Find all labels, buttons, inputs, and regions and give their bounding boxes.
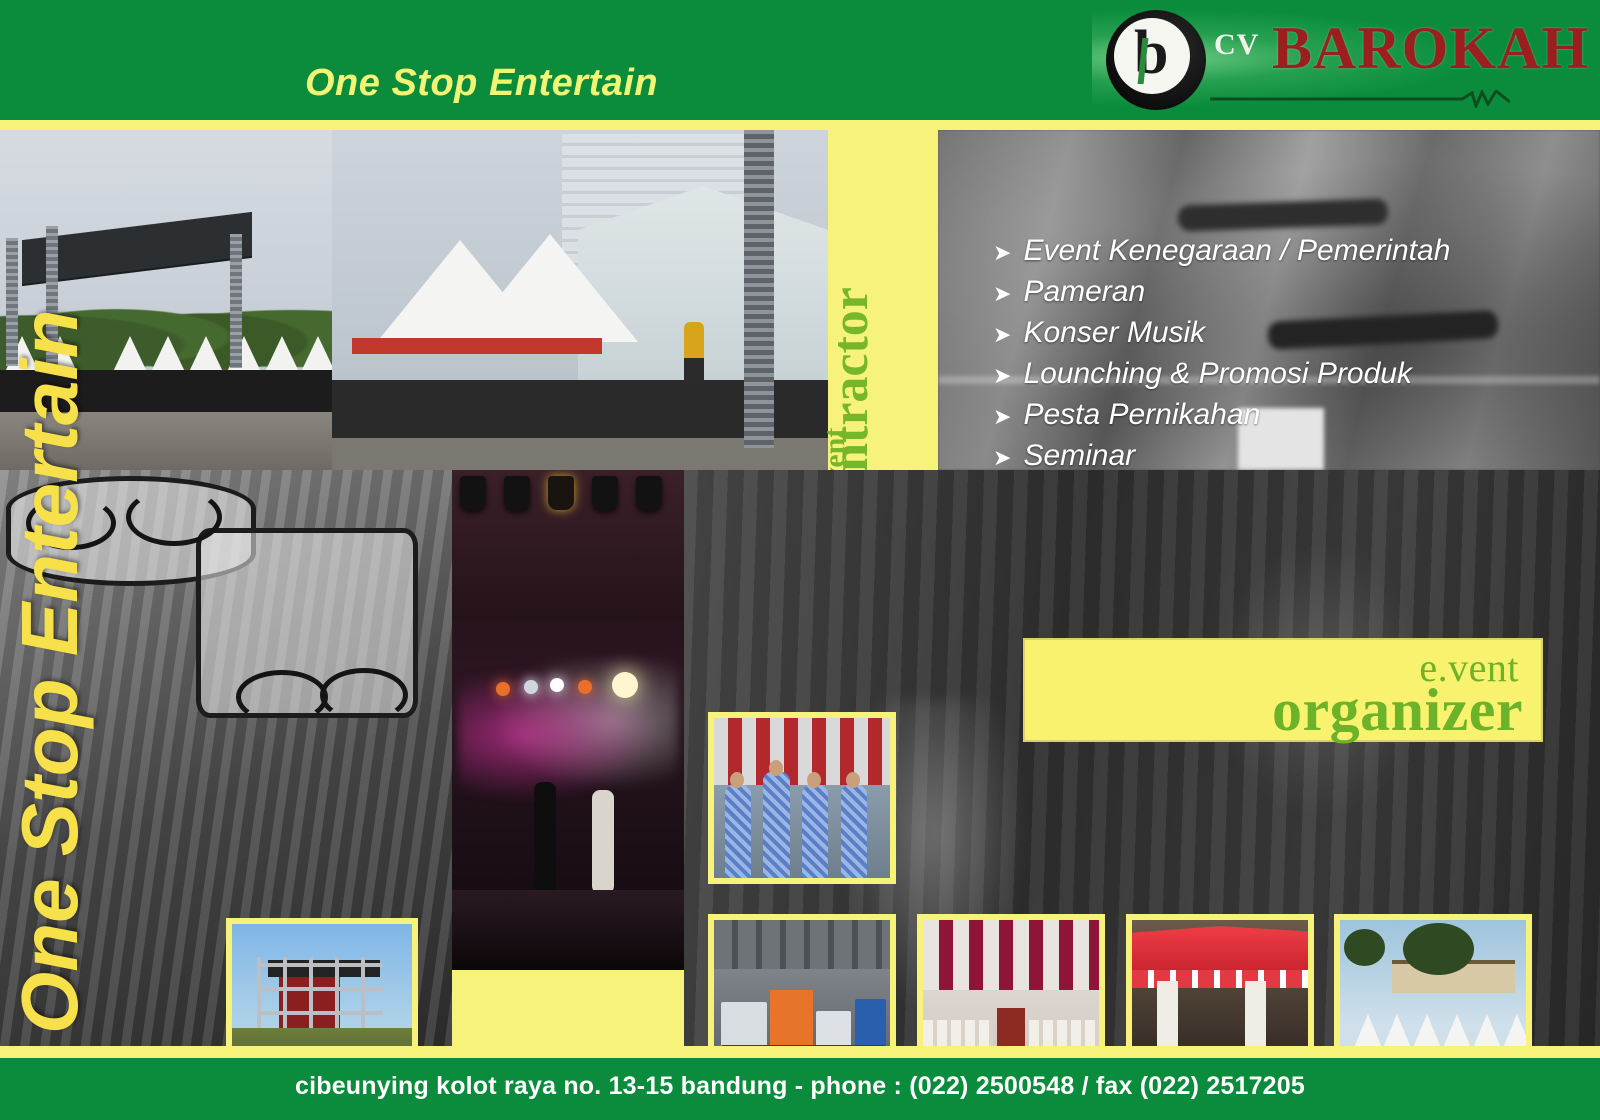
- content-area: event contractor ➤ Event Kenegaraan / Pe…: [0, 130, 1600, 1046]
- yellow-filler-block: [452, 970, 684, 1046]
- services-panel: ➤ Event Kenegaraan / Pemerintah ➤ Pamera…: [938, 130, 1600, 470]
- photo-outdoor-stage: [0, 130, 332, 470]
- divider-top: [0, 120, 1600, 130]
- arrow-bullet-icon: ➤: [993, 365, 1011, 387]
- list-item: ➤ Event Kenegaraan / Pemerintah: [993, 234, 1450, 268]
- event-contractor-label-group: event contractor: [828, 130, 938, 470]
- list-item: ➤ Seminar: [993, 439, 1450, 470]
- service-label: Konser Musik: [1023, 316, 1205, 350]
- service-label: Pameran: [1023, 275, 1145, 309]
- header-bar: One Stop Entertain b CV BAROKAH: [0, 0, 1600, 120]
- event-organizer-banner: e.vent organizer: [1023, 638, 1543, 742]
- page-title: One Stop Entertain: [305, 62, 658, 105]
- service-label: Lounching & Promosi Produk: [1023, 357, 1412, 391]
- list-item: ➤ Konser Musik: [993, 316, 1450, 350]
- services-list: ➤ Event Kenegaraan / Pemerintah ➤ Pamera…: [993, 234, 1450, 470]
- thumbnail-state-ceremony: [708, 712, 896, 884]
- photo-concert-stage: [452, 470, 684, 970]
- arrow-bullet-icon: ➤: [993, 447, 1011, 469]
- service-label: Pesta Pernikahan: [1023, 398, 1260, 432]
- list-item: ➤ Pameran: [993, 275, 1450, 309]
- list-item: ➤ Lounching & Promosi Produk: [993, 357, 1450, 391]
- divider-bottom: [0, 1046, 1600, 1058]
- service-label: Event Kenegaraan / Pemerintah: [1023, 234, 1450, 268]
- footer-bar: cibeunying kolot raya no. 13-15 bandung …: [0, 1058, 1600, 1120]
- logo-swoosh-icon: [1210, 90, 1510, 108]
- list-item: ➤ Pesta Pernikahan: [993, 398, 1450, 432]
- photo-pagoda-tents: [332, 130, 828, 470]
- logo-prefix: CV: [1214, 28, 1259, 62]
- arrow-bullet-icon: ➤: [993, 324, 1011, 346]
- company-logo: b CV BAROKAH: [1092, 6, 1522, 114]
- organizer-line2: organizer: [1272, 676, 1523, 745]
- logo-company-name: BAROKAH: [1272, 14, 1589, 83]
- logo-monogram-icon: b: [1134, 22, 1168, 84]
- arrow-bullet-icon: ➤: [993, 406, 1011, 428]
- contact-info: cibeunying kolot raya no. 13-15 bandung …: [0, 1072, 1600, 1101]
- arrow-bullet-icon: ➤: [993, 283, 1011, 305]
- logo-disc-icon: b: [1106, 10, 1206, 110]
- service-label: Seminar: [1023, 439, 1135, 470]
- brochure-page: One Stop Entertain b CV BAROKAH: [0, 0, 1600, 1120]
- arrow-bullet-icon: ➤: [993, 242, 1011, 264]
